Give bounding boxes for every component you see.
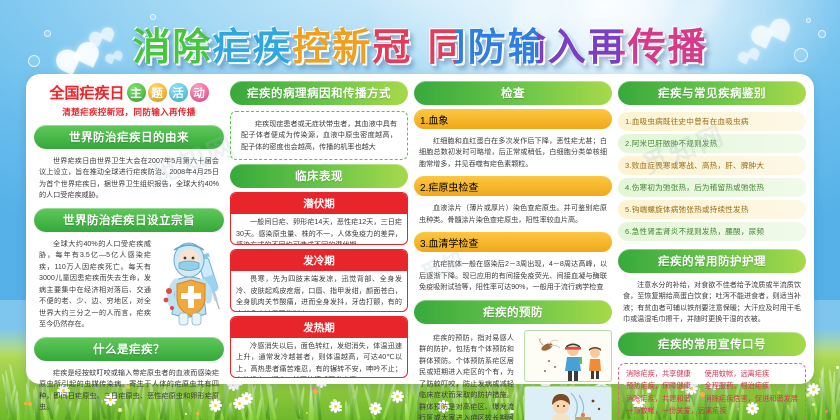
section-text-pathology: 疟疾现症患者或无症状带虫者，其血液中具有配子体者便成为传染源，血液中原虫密度越高… [236,116,402,155]
section-header-slogans: 疟疾的常用宣传口号 [618,332,806,356]
list-item: 2.阿米巴肝脓肿不规则发热 [618,134,806,153]
symptom-label: 发热期 [231,317,407,338]
slogan-item: 消除疟疾危害，促进和谐发展 [705,394,798,404]
section-header-care: 疟疾的常用防护护理 [618,249,806,273]
exam-text-blood-picture: 红细胞和血红蛋白在多次发作后下降，恶性疟尤甚；白细胞总数初发时可略增，后正常或稍… [414,133,612,172]
list-item: 6.急性肾盂肾炎不规则发热，腰酸，尿频 [618,222,806,241]
section-text-what-is-malaria: 疟疾是经按蚊叮咬或输入带疟原虫者的血液而感染疟原虫所引起的虫媒传染病。寄生于人体… [34,365,224,416]
slogan-item: 预防疟疾，保障健康 [626,381,699,391]
campaign-char-3: 活 [169,83,188,102]
section-header-differential: 疟疾与常见疾病鉴别 [618,81,806,105]
symptom-text: 畏寒，先为四肢末端发凉，迅觉背部、全身发冷、皮肤起鸡皮疙瘩，口唇、指甲发绀，颜面… [231,271,407,311]
column-pathology-symptoms: 疟疾的病理病因和传播方式 疟疾现症患者或无症状带虫者，其血液中具有配子体者便成为… [230,81,408,378]
section-header-origin: 世界防治疟疾日的由来 [34,125,224,149]
illustration-mosquito-coil [524,386,612,420]
section-header-pathology: 疟疾的病理病因和传播方式 [230,81,408,105]
exam-text-serology: 抗疟抗体一般在感染后2－3周出现，4－8周达高峰，以后逐渐下降。现已应用的有间接… [414,256,612,295]
campaign-char-1: 主 [127,83,146,102]
list-item: 4.伤寒初为弛张热，后为稽留热或弛张热 [618,178,806,197]
purpose-block: 全球大约40%的人口受疟疾威胁，每年有3.5亿—5亿人感染疟疾，110万人因疟疾… [34,236,224,333]
slogan-item: 消除疟疾，共享健康 [626,369,699,379]
poster-canvas: 消除疟疾控新冠 同防输入再传播 全国疟疾日 主 题 活 动 清楚疟疾控新冠，同防… [0,0,840,420]
exam-label-blood-picture: 1.血象 [414,109,612,129]
section-text-prevention: 疟疾的预防，指对易感人群的防护，包括有个体预防和群体预防。个体预防系疟区居民或短… [414,330,519,420]
campaign-char-4: 动 [190,83,209,102]
symptom-text: 一般间日疟、卵形疟14天，恶性疟12天，三日疟30天。感染原虫量、株的不一，人体… [231,214,407,245]
exam-label-parasite: 2.疟原虫检查 [414,176,612,196]
slogan-item: 使用蚊帐，远离疟疾 [705,369,798,379]
slogan-item: 全程服药，根治疟疾 [705,381,798,391]
symptom-label: 发冷期 [231,250,407,271]
symptom-block-incubation: 潜伏期 一般间日疟、卵形疟14天，恶性疟12天，三日疟30天。感染原虫量、株的不… [230,192,408,245]
slogan-box: 消除疟疾，共享健康 使用蚊帐，远离疟疾 预防疟疾，保障健康 全程服药，根治疟疾 … [618,363,806,420]
illustration-spraying [524,330,612,382]
poster-title-area: 消除疟疾控新冠 同防输入再传播 [0,16,840,71]
symptom-block-chill: 发冷期 畏寒，先为四肢末端发凉，迅觉背部、全身发冷、皮肤起鸡皮疙瘩，口唇、指甲发… [230,249,408,311]
exam-text-parasite: 血液涂片（薄片或厚片）染色查疟原虫。并可鉴别疟原虫种类。骨髓涂片染色查疟原虫，阳… [414,200,612,228]
differential-list: 1.血吸虫病既往史中曾有在血吸虫病 2.阿米巴肝脓肿不规则发热 3.败血症畏寒或… [618,112,806,241]
column-origin-purpose: 全国疟疾日 主 题 活 动 清楚疟疾控新冠，同防输入再传播 世界防治疟疾日的由来… [34,81,224,378]
list-item: 5.钩端螺旋体病弛张热或持续性发热 [618,200,806,219]
exam-label-serology: 3.血清学检查 [414,232,612,252]
campaign-branding: 全国疟疾日 主 题 活 动 清楚疟疾控新冠，同防输入再传播 [34,81,224,121]
poster-title: 消除疟疾控新冠 同防输入再传播 [126,16,713,71]
campaign-char-2: 题 [148,83,167,102]
section-text-care: 注意水分的补给，对食欲不佳者给予流质或半流质饮食，至恢复期给高蛋白饮食；吐泻不能… [618,277,806,328]
content-panel: 全国疟疾日 主 题 活 动 清楚疟疾控新冠，同防输入再传播 世界防治疟疾日的由来… [26,74,814,384]
section-header-what-is-malaria: 什么是疟疾？ [34,337,224,361]
column-examination-prevention: 检查 1.血象 红细胞和血红蛋白在多次发作后下降，恶性疟尤甚；白细胞总数初发时可… [414,81,612,378]
prevention-block: 疟疾的预防，指对易感人群的防护，包括有个体预防和群体预防。个体预防系疟区居民或短… [414,330,612,420]
symptom-label: 潜伏期 [231,193,407,214]
symptom-text: 冷感消失以后，面色转红，发绀消失，体温迅速上升，通常发冷越甚者，则体温越高，可达… [231,338,407,378]
campaign-subtitle: 清楚疟疾控新冠，同防输入再传播 [34,106,224,118]
symptom-block-fever: 发热期 冷感消失以后，面色转红，发绀消失，体温迅速上升，通常发冷越甚者，则体温越… [230,316,408,378]
list-item: 1.血吸虫病既往史中曾有在血吸虫病 [618,112,806,131]
section-text-purpose: 全球大约40%的人口受疟疾威胁，每年有3.5亿—5亿人感染疟疾，110万人因疟疾… [34,236,156,333]
pathology-textbox: 疟疾现症患者或无症状带虫者，其血液中具有配子体者便成为传染源，血液中原虫密度越高… [230,111,408,160]
slogan-item: 消除疟疾，共建和谐 [626,394,699,404]
section-header-purpose: 世界防治疟疾日设立宗旨 [34,208,224,232]
doctor-illustration [158,236,224,332]
list-item: 3.败血症畏寒或寒战、高热，肝、脾肿大 [618,156,806,175]
campaign-title: 全国疟疾日 [49,82,124,103]
section-header-examination: 检查 [414,81,612,105]
section-header-clinical: 临床表现 [230,164,408,188]
section-text-origin: 世界疟疾日由世界卫生大会在2007年5月第六十届会议上设立，旨在推动全球进行疟疾… [34,153,224,204]
prevention-illustrations [524,330,612,420]
column-differential-care: 疟疾与常见疾病鉴别 1.血吸虫病既往史中曾有在血吸虫病 2.阿米巴肝脓肿不规则发… [618,81,806,378]
section-header-prevention: 疟疾的预防 [414,300,612,324]
slogan-item: 一顶蚊帐，一份关爱，远离疟疾 [626,406,798,416]
